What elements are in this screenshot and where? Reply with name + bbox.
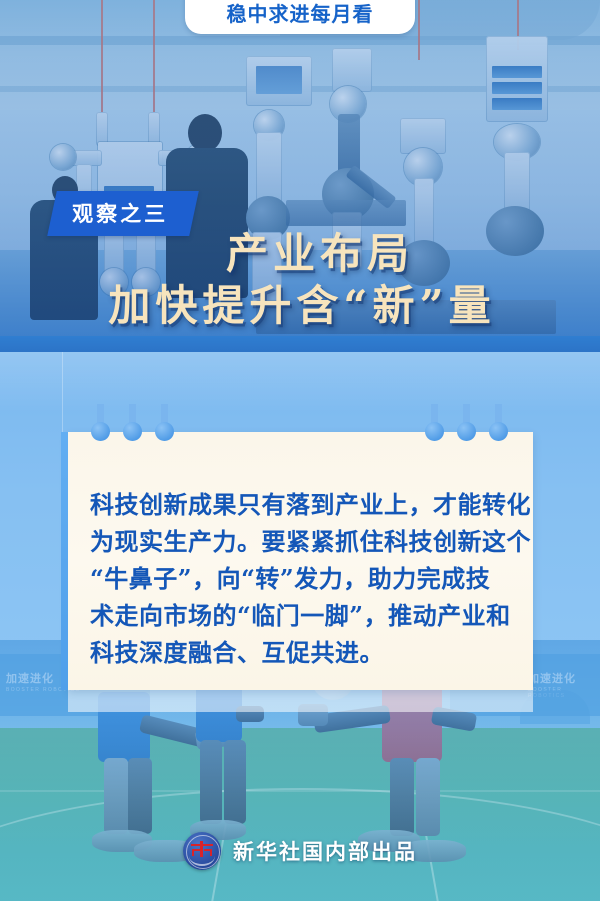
poster: 加速进化 BOOSTER ROBOTICS 加速进化 BOOSTER ROBOT…	[0, 0, 600, 901]
note-card-spine	[61, 432, 68, 690]
pin-head-icon	[123, 422, 142, 441]
footer: 新华社国内部出品	[0, 828, 600, 874]
pin-head-icon	[155, 422, 174, 441]
pin	[128, 404, 137, 442]
pin-head-icon	[457, 422, 476, 441]
section-banner: 观察之三	[47, 191, 199, 236]
section-banner-label: 观察之三	[72, 198, 168, 228]
page-title: 产业布局 加快提升含“新”量	[0, 228, 600, 332]
body-line: 术走向市场的“临门一脚”，推动产业和	[90, 597, 514, 634]
pin	[494, 404, 503, 442]
card-pins	[0, 404, 600, 450]
footer-text: 新华社国内部出品	[233, 836, 417, 866]
pin-head-icon	[489, 422, 508, 441]
pin-head-icon	[91, 422, 110, 441]
title-line-2: 加快提升含“新”量	[0, 280, 600, 332]
header-badge: 稳中求进每月看	[185, 0, 415, 34]
pin	[462, 404, 471, 442]
logo-mark	[191, 841, 213, 857]
note-card: 科技创新成果只有落到产业上，才能转化 为现实生产力。要紧紧抓住科技创新这个 “牛…	[68, 432, 533, 690]
background-sheen	[0, 352, 600, 412]
body-line: 科技创新成果只有落到产业上，才能转化	[90, 486, 514, 523]
pin-head-icon	[425, 422, 444, 441]
body-line: 科技深度融合、互促共进。	[90, 634, 514, 671]
header-badge-text: 稳中求进每月看	[227, 0, 374, 27]
pin	[430, 404, 439, 442]
body-line: 为现实生产力。要紧紧抓住科技创新这个	[90, 523, 514, 560]
note-card-body: 科技创新成果只有落到产业上，才能转化 为现实生产力。要紧紧抓住科技创新这个 “牛…	[90, 486, 514, 671]
body-line: “牛鼻子”，向“转”发力，助力完成技	[90, 560, 514, 597]
pin	[96, 404, 105, 442]
xinhua-logo-icon	[183, 832, 221, 870]
pin	[160, 404, 169, 442]
